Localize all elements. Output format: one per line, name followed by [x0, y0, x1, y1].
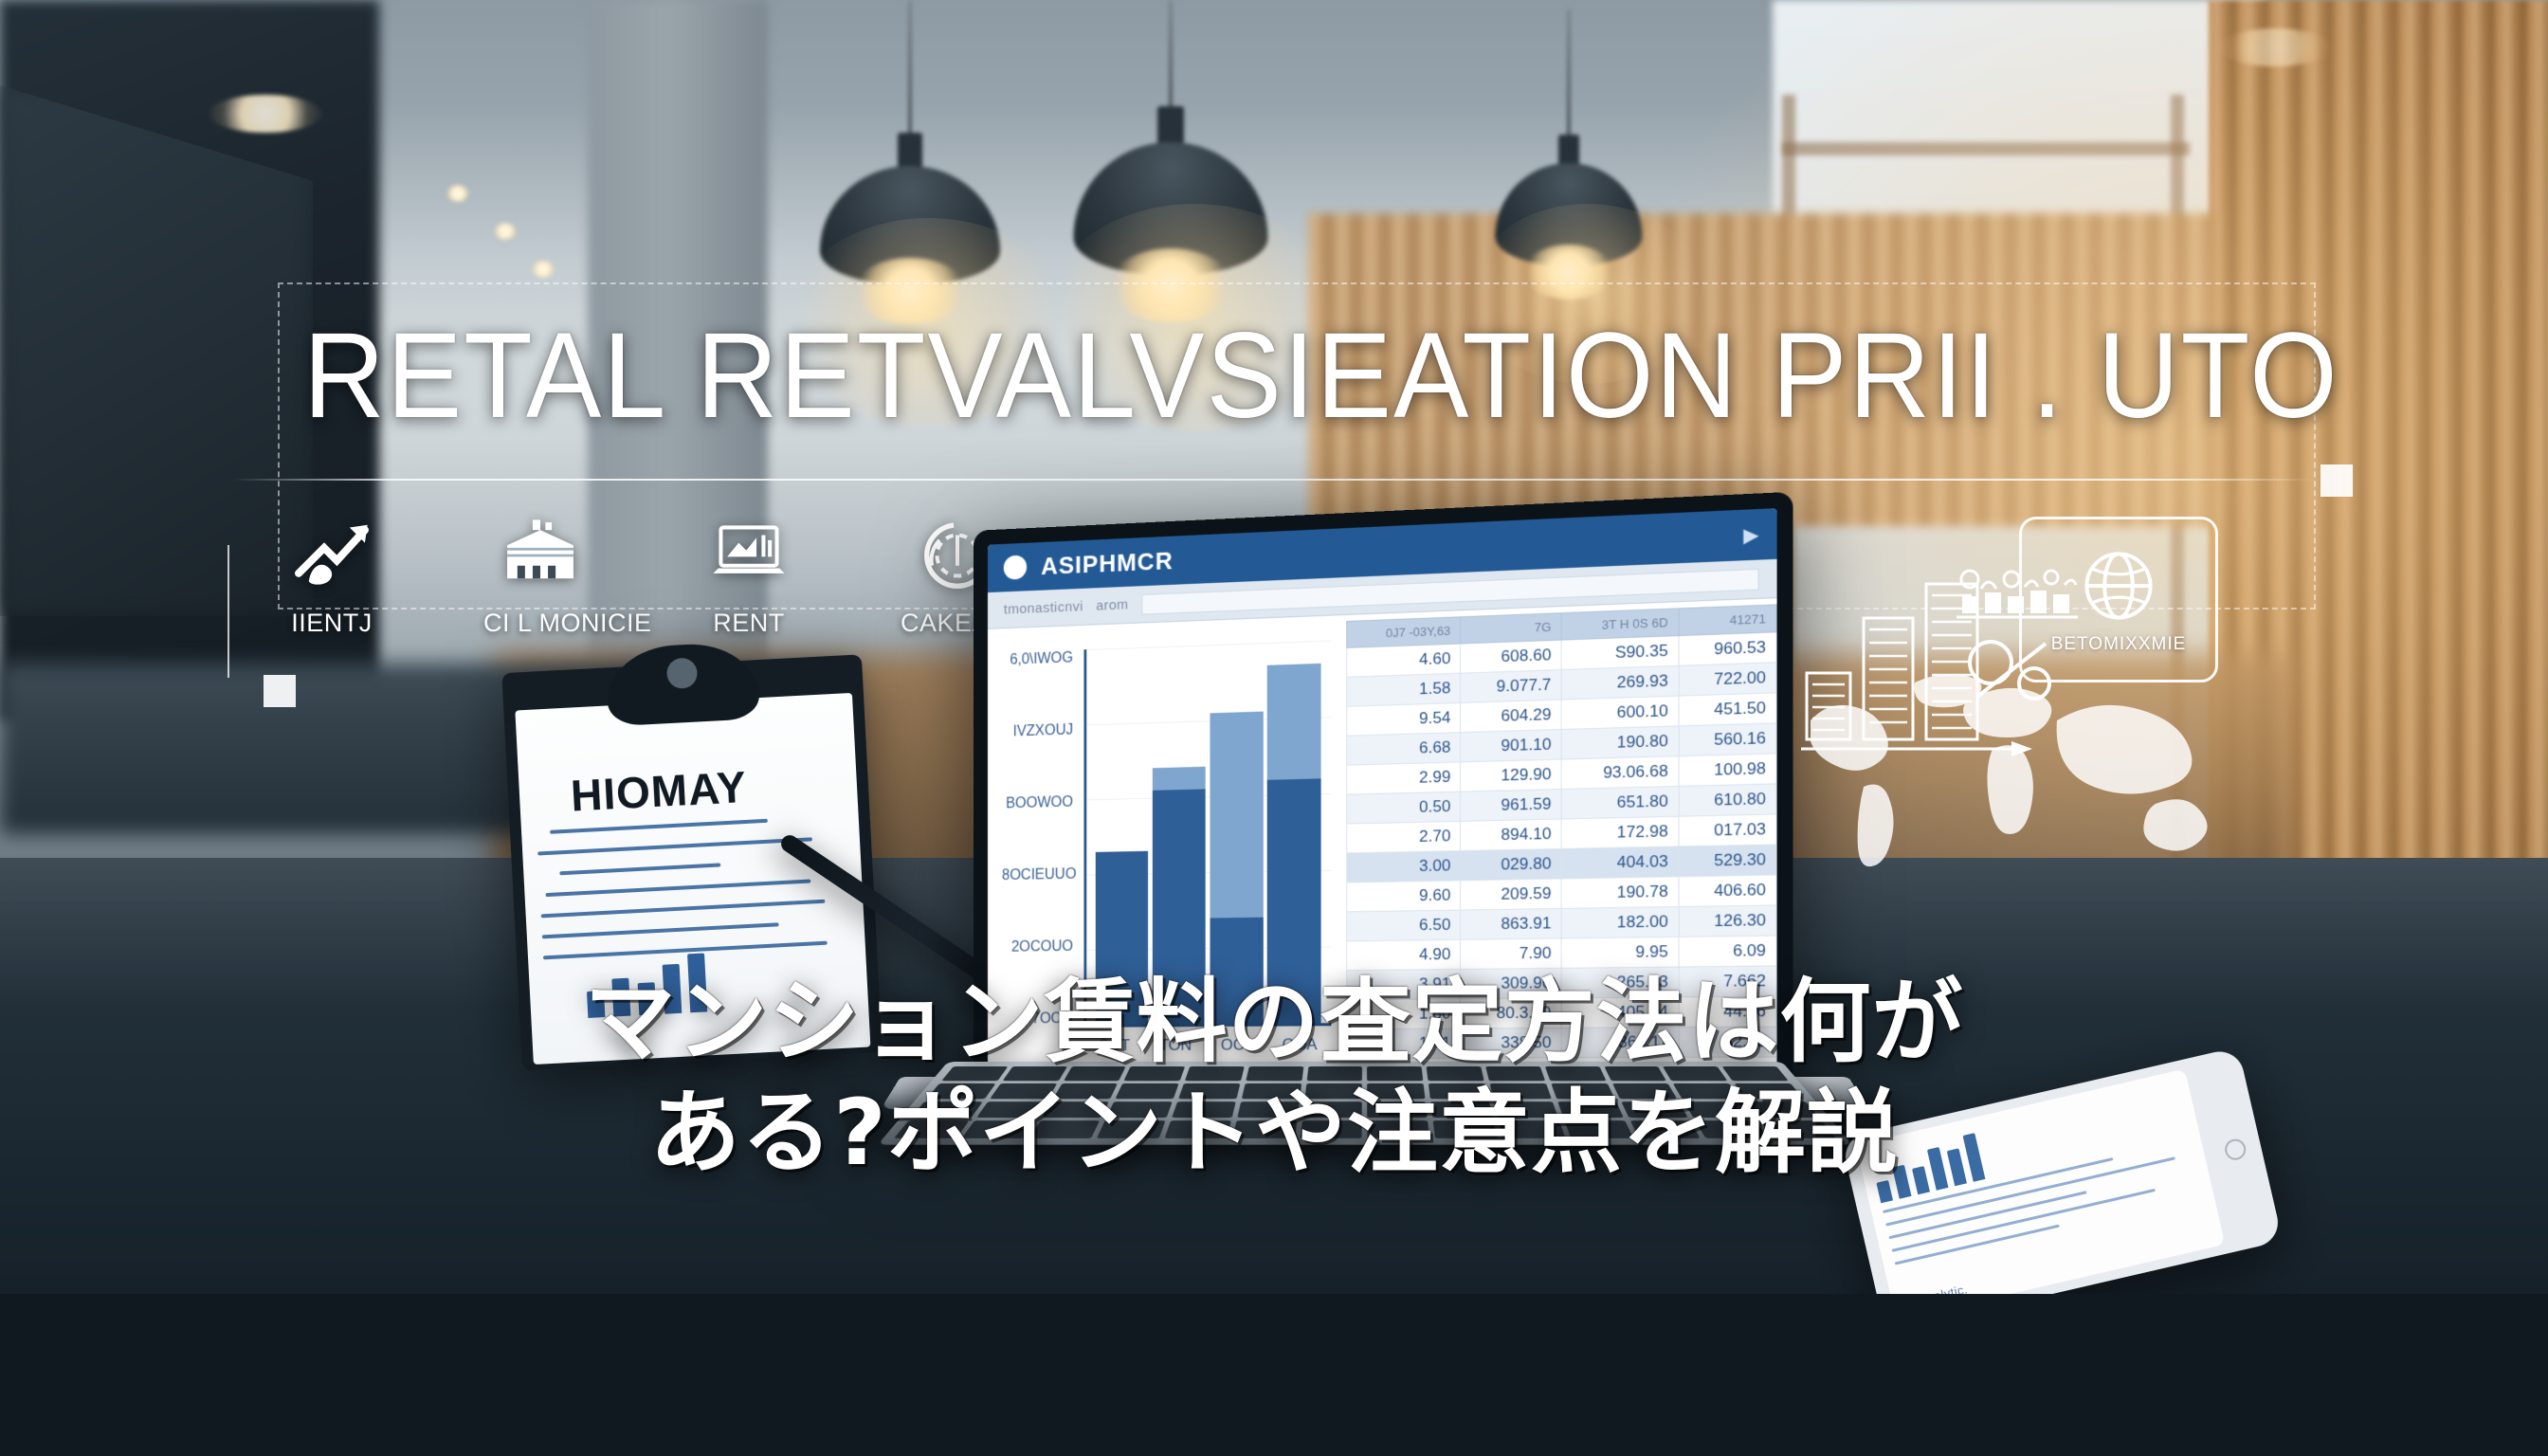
pendant-lamp	[1062, 0, 1280, 322]
table-cell[interactable]: 6.50	[1347, 910, 1461, 941]
table-cell[interactable]: 604.29	[1461, 700, 1561, 733]
table-cell[interactable]: 4.90	[1347, 939, 1461, 970]
table-cell[interactable]: 1.58	[1347, 673, 1461, 706]
table-cell[interactable]: 0.50	[1347, 792, 1461, 824]
table-cell[interactable]: 4.60	[1347, 644, 1461, 677]
laptop-chart-icon	[692, 512, 806, 599]
table-cell[interactable]: 6.68	[1347, 733, 1461, 765]
ceiling-spot-icon	[2218, 28, 2332, 66]
table-cell[interactable]: 451.50	[1679, 693, 1776, 726]
world-map-graphic	[1773, 645, 2266, 929]
feature-label: IIENTJ	[275, 609, 389, 638]
feature-item-rising-arrow[interactable]: IIENTJ	[275, 512, 389, 638]
table-cell[interactable]: 9.60	[1347, 881, 1461, 912]
y-tick: BOOWOO	[1002, 794, 1073, 812]
table-cell[interactable]: 100.98	[1679, 754, 1776, 787]
y-tick: 6,0\IWOG	[1002, 650, 1073, 669]
table-cell[interactable]: 608.60	[1461, 640, 1561, 673]
table-cell[interactable]: 172.98	[1561, 816, 1678, 848]
table-cell[interactable]: 182.00	[1561, 907, 1678, 938]
play-icon[interactable]: ▶	[1743, 522, 1758, 547]
y-tick: 2OCOUO	[1002, 938, 1073, 955]
apartment-building-icon	[483, 512, 597, 599]
overlay-title-line-1: マンション賃料の査定方法は何が	[114, 967, 2434, 1078]
overlay-title: マンション賃料の査定方法は何が ある?ポイントや注意点を解説	[0, 967, 2548, 1189]
pendant-lamp	[1483, 9, 1654, 294]
ceiling-spot-icon	[531, 261, 555, 278]
page-title: RETAL RETVALVSIEATION PRII . UTO	[303, 313, 2173, 440]
chart-bar-segment-upper	[1210, 711, 1263, 918]
table-cell[interactable]: 529.30	[1679, 845, 1776, 877]
globe-card[interactable]: BETOMIXXMIE	[2019, 517, 2218, 682]
overlay-title-line-2: ある?ポイントや注意点を解説	[114, 1078, 2434, 1189]
feature-label: RENT	[692, 609, 806, 638]
table-cell[interactable]: 9.077.7	[1461, 670, 1561, 703]
table-cell[interactable]: 3.00	[1347, 851, 1461, 883]
table-cell[interactable]: 2.70	[1347, 821, 1461, 853]
table-cell[interactable]: 6.09	[1679, 936, 1776, 967]
globe-card-label: BETOMIXXMIE	[2051, 634, 2187, 655]
table-cell[interactable]: 863.91	[1461, 908, 1561, 939]
table-cell[interactable]: 269.93	[1561, 665, 1678, 700]
table-cell[interactable]: 2.99	[1347, 762, 1461, 794]
table-cell[interactable]: 9.95	[1561, 937, 1678, 968]
table-column-header[interactable]: 41271	[1679, 605, 1776, 636]
feature-label: CI L MONICIE	[483, 609, 597, 638]
toolbar-label-left: tmonasticnvi	[1004, 599, 1083, 618]
window-mullion	[1782, 142, 2190, 155]
frame-corner-square	[264, 675, 296, 707]
table-cell[interactable]: 961.59	[1461, 789, 1561, 821]
table-cell[interactable]: 722.00	[1679, 663, 1776, 696]
table-cell[interactable]: 190.78	[1561, 877, 1678, 909]
table-cell[interactable]: 610.80	[1679, 784, 1776, 816]
feature-item-rent[interactable]: RENT	[692, 512, 806, 638]
table-cell[interactable]: 126.30	[1679, 905, 1776, 937]
table-column-header[interactable]: 7G	[1461, 613, 1561, 644]
ceiling-spot-icon	[493, 223, 518, 240]
table-cell[interactable]: 017.03	[1679, 814, 1776, 846]
table-cell[interactable]: 960.53	[1679, 632, 1776, 666]
app-logo-icon	[1004, 555, 1027, 579]
ceiling-spot-icon	[446, 185, 470, 202]
table-cell[interactable]: 894.10	[1461, 819, 1561, 851]
app-title: ASIPHMCR	[1041, 546, 1173, 581]
table-cell[interactable]: 901.10	[1461, 730, 1561, 762]
table-column-header[interactable]: 0J7 -03Y,63	[1347, 617, 1461, 648]
hero-banner: RETAL RETVALVSIEATION PRII . UTO IIENTJ	[0, 0, 2548, 1456]
chart-bar-segment-upper	[1267, 664, 1321, 780]
table-cell[interactable]: S90.35	[1561, 636, 1678, 670]
table-cell[interactable]: 129.90	[1461, 759, 1561, 792]
table-cell[interactable]: 93.06.68	[1561, 756, 1678, 790]
table-cell[interactable]: 560.16	[1679, 723, 1776, 756]
y-tick: 8OCIEUUO	[1002, 866, 1073, 884]
table-cell[interactable]: 600.10	[1561, 696, 1678, 729]
headline-underline	[232, 479, 2318, 481]
table-cell[interactable]: 029.80	[1461, 848, 1561, 880]
ceiling-spot-icon	[209, 95, 322, 133]
rising-arrow-icon	[275, 512, 389, 599]
table-cell[interactable]: 190.80	[1561, 726, 1678, 759]
table-cell[interactable]: 209.59	[1461, 879, 1561, 910]
table-row[interactable]: 4.907.909.956.09	[1347, 936, 1776, 971]
table-cell[interactable]: 404.03	[1561, 846, 1678, 879]
table-cell[interactable]: 7.90	[1461, 938, 1561, 970]
globe-icon	[2078, 545, 2159, 627]
table-cell[interactable]: 651.80	[1561, 786, 1678, 819]
feature-item-apartment[interactable]: CI L MONICIE	[483, 512, 597, 638]
chart-bar-segment-upper	[1153, 766, 1206, 790]
table-cell[interactable]: 406.60	[1679, 875, 1776, 907]
frame-tick-line	[227, 545, 229, 678]
toolbar-label-mid: arom	[1096, 597, 1128, 614]
clipboard-title: HIOMAY	[570, 761, 748, 822]
table-column-header[interactable]: 3T H 0S 6D	[1561, 609, 1678, 640]
bottom-band	[0, 1294, 2548, 1456]
pendant-lamp	[806, 0, 1014, 313]
y-tick: IVZXOUJ	[1002, 722, 1073, 741]
table-cell[interactable]: 9.54	[1347, 702, 1461, 736]
frame-corner-square	[2320, 464, 2353, 497]
